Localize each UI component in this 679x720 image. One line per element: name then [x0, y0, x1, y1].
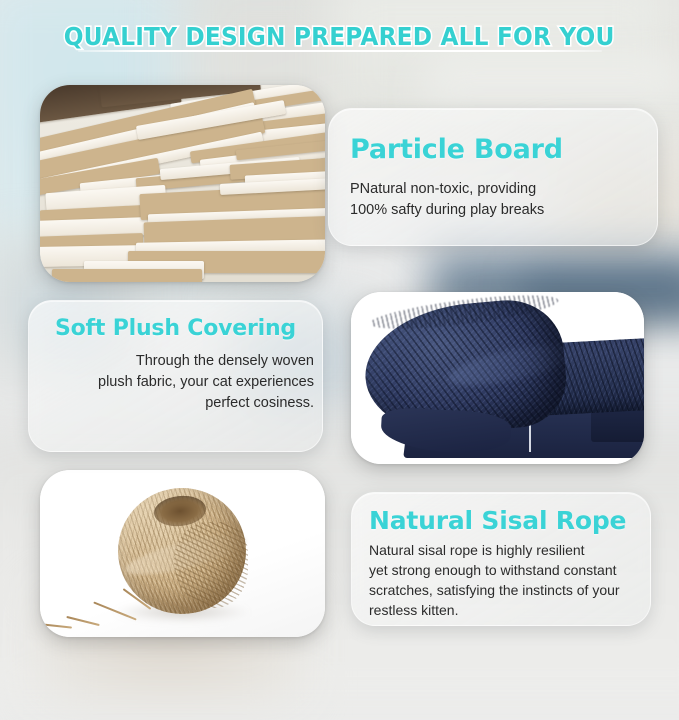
feature-body-line: plush fabric, your cat experiences [39, 372, 314, 393]
feature-body-line: yet strong enough to withstand constant [369, 561, 641, 581]
feature-card-sisal-rope: Natural Sisal Rope Natural sisal rope is… [351, 492, 651, 626]
feature-body-particle-board: PNatural non-toxic, providing 100% safty… [350, 179, 544, 221]
feature-title-soft-plush: Soft Plush Covering [29, 317, 322, 341]
feature-body-line: restless kitten. [369, 601, 641, 621]
feature-card-particle-board: Particle Board PNatural non-toxic, provi… [328, 108, 658, 246]
page-title-text: QUALITY DESIGN PREPARED ALL FOR YOU [64, 22, 615, 51]
plush-fabric-photo [351, 292, 644, 464]
feature-body-line: PNatural non-toxic, providing [350, 179, 544, 200]
feature-card-soft-plush: Soft Plush Covering Through the densely … [28, 300, 323, 452]
sisal-rope-photo [40, 470, 325, 637]
feature-title-particle-board: Particle Board [350, 135, 563, 165]
sisal-rope-scene [40, 470, 325, 637]
plush-fabric-scene [351, 292, 644, 464]
feature-body-line: 100% safty during play breaks [350, 200, 544, 221]
feature-body-soft-plush: Through the densely woven plush fabric, … [39, 351, 314, 414]
particle-board-photo [40, 85, 325, 282]
feature-body-line: scratches, satisfying the instincts of y… [369, 581, 641, 601]
feature-body-line: perfect cosiness. [39, 393, 314, 414]
feature-body-sisal-rope: Natural sisal rope is highly resilient y… [369, 541, 641, 621]
particle-board-scene [40, 85, 325, 282]
feature-body-line: Through the densely woven [39, 351, 314, 372]
page-title: QUALITY DESIGN PREPARED ALL FOR YOU [0, 22, 679, 51]
sisal-twine-ball [118, 488, 246, 614]
feature-title-sisal-rope: Natural Sisal Rope [369, 507, 626, 535]
title-underline [78, 50, 602, 52]
feature-body-line: Natural sisal rope is highly resilient [369, 541, 641, 561]
